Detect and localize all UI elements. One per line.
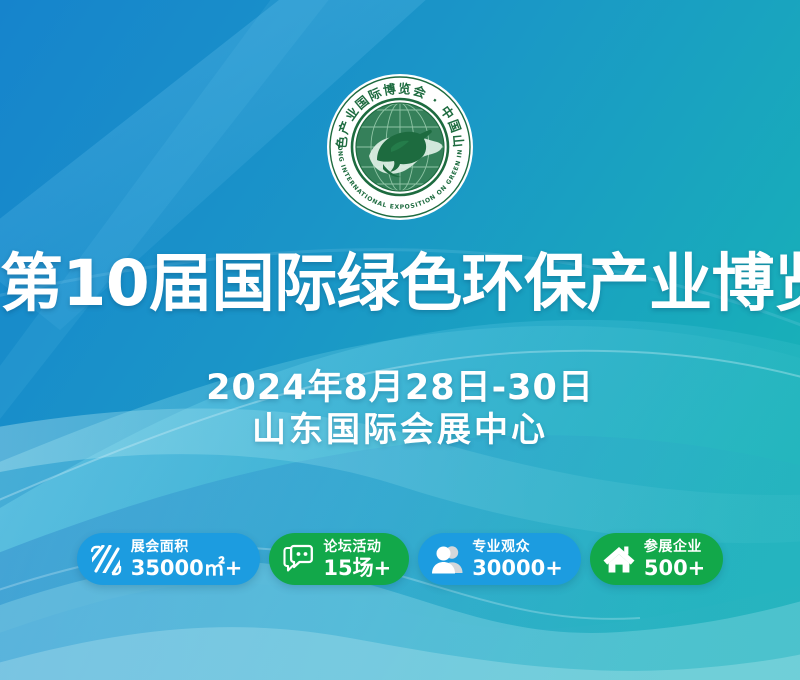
- stat-label: 展会面积: [131, 540, 243, 554]
- expo-logo: 绿色产业国际博览会 · 中国山东 SHANDONG INTERNATIONAL …: [325, 72, 475, 222]
- expo-poster: 绿色产业国际博览会 · 中国山东 SHANDONG INTERNATIONAL …: [0, 0, 800, 680]
- visitors-people-icon: [430, 542, 464, 576]
- event-meta: 2024年8月28日-30日 山东国际会展中心: [0, 368, 800, 452]
- stat-value: 500+: [644, 558, 705, 579]
- stat-value: 35000㎡+: [131, 558, 243, 579]
- stat-label: 论坛活动: [323, 540, 391, 554]
- stats-row: 展会面积 35000㎡+ 论坛活动 15场+: [0, 533, 800, 585]
- event-venue: 山东国际会展中心: [0, 409, 800, 452]
- logo-container: 绿色产业国际博览会 · 中国山东 SHANDONG INTERNATIONAL …: [0, 72, 800, 222]
- exhibition-area-icon: [89, 542, 123, 576]
- poster-title: 第10届国际绿色环保产业博览会: [0, 252, 800, 316]
- stat-pill-exhibitors: 参展企业 500+: [590, 533, 723, 585]
- event-date: 2024年8月28日-30日: [0, 368, 800, 409]
- forum-chat-icon: [281, 542, 315, 576]
- stat-label: 专业观众: [472, 540, 563, 554]
- exhibitor-house-icon: [602, 542, 636, 576]
- stat-value: 15场+: [323, 558, 391, 579]
- stat-pill-professional-visitors: 专业观众 30000+: [418, 533, 581, 585]
- stat-pill-forum-events: 论坛活动 15场+: [269, 533, 409, 585]
- stat-pill-exhibition-area: 展会面积 35000㎡+: [77, 533, 261, 585]
- stat-label: 参展企业: [644, 540, 705, 554]
- stat-value: 30000+: [472, 558, 563, 579]
